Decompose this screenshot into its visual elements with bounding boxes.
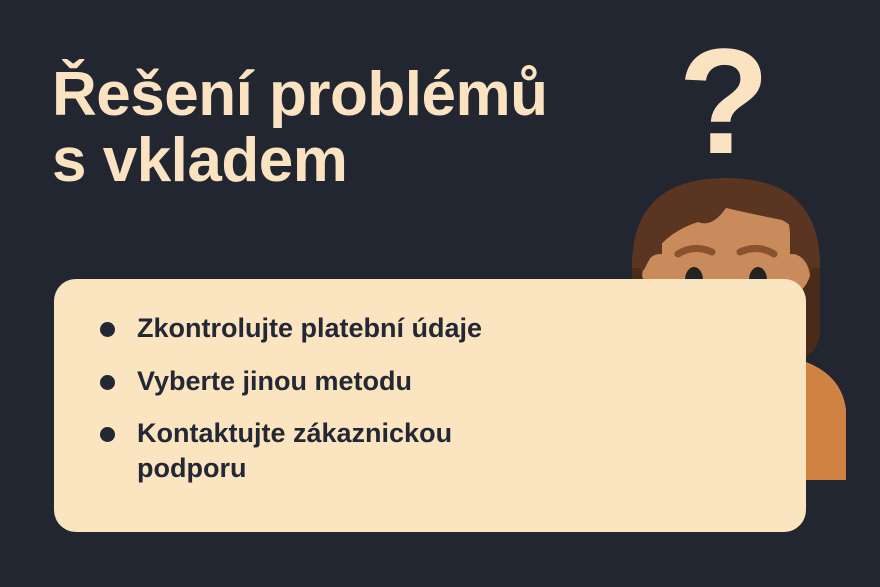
tips-list: Zkontrolujte platební údaje Vyberte jino… — [54, 279, 806, 485]
page-title: Řešení problémů s vkladem — [52, 62, 672, 195]
infographic-canvas: Řešení problémů s vkladem ? — [0, 0, 880, 587]
list-item-label: Vyberte jinou metodu — [137, 364, 412, 399]
question-mark-icon: ? — [668, 26, 780, 176]
list-item: Vyberte jinou metodu — [100, 364, 766, 399]
list-item: Zkontrolujte platební údaje — [100, 311, 766, 346]
bullet-dot-icon — [100, 375, 115, 390]
bullet-dot-icon — [100, 322, 115, 337]
list-item-label: Zkontrolujte platební údaje — [137, 311, 482, 346]
bullet-dot-icon — [100, 427, 115, 442]
tips-card: Zkontrolujte platební údaje Vyberte jino… — [54, 279, 806, 532]
list-item-label: Kontaktujte zákaznickou podporu — [137, 416, 557, 485]
list-item: Kontaktujte zákaznickou podporu — [100, 416, 766, 485]
